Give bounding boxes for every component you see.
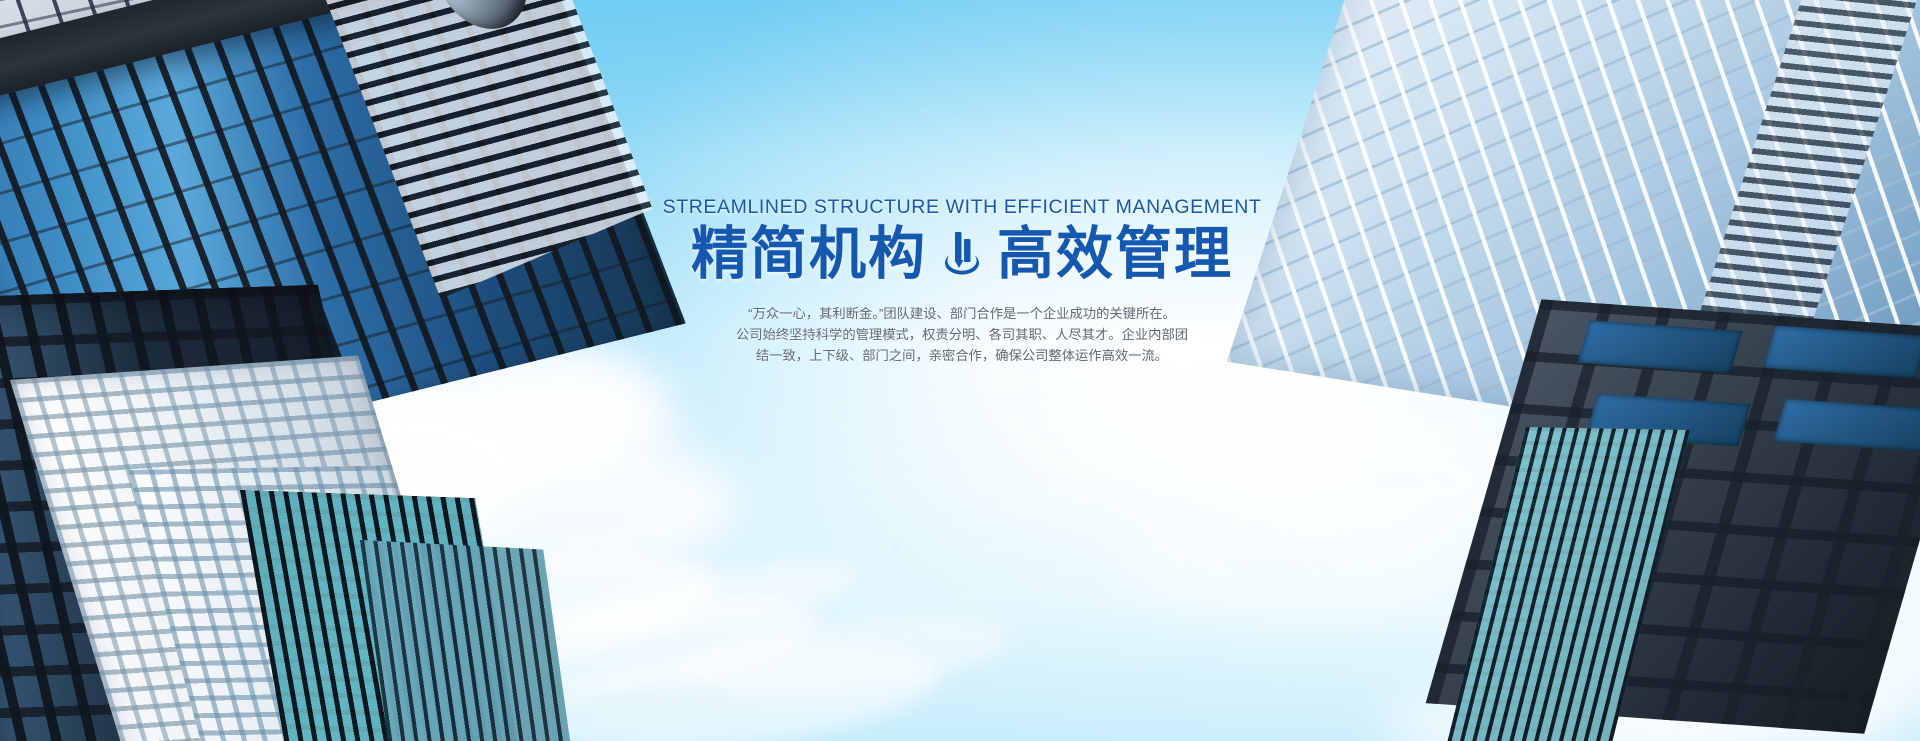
headline-text-left: 精简机构: [691, 223, 927, 287]
banner-paragraph: “万众一心，其利断金。”团队建设、部门合作是一个企业成功的关键所在。 公司始终坚…: [612, 303, 1312, 366]
cloud: [470, 370, 680, 470]
company-buildings-swoosh-logo-icon: [941, 230, 983, 280]
building-window: [1773, 399, 1920, 452]
building-window: [1577, 320, 1742, 373]
banner-eyebrow-english: STREAMLINED STRUCTURE WITH EFFICIENT MAN…: [612, 196, 1312, 219]
headline-text-right: 高效管理: [997, 223, 1233, 287]
paragraph-line-3: 结一致，上下级、部门之间，亲密合作，确保公司整体运作高效一流。: [612, 345, 1312, 366]
left-teal-glass-tower-2: [360, 540, 578, 741]
banner-headline: 精简机构 高效管理: [612, 223, 1312, 287]
building-window: [1763, 325, 1920, 378]
banner-copy-block: STREAMLINED STRUCTURE WITH EFFICIENT MAN…: [612, 196, 1312, 366]
paragraph-line-1: “万众一心，其利断金。”团队建设、部门合作是一个企业成功的关键所在。: [612, 303, 1312, 324]
paragraph-line-2: 公司始终坚持科学的管理模式，权责分明、各司其职、人尽其才。企业内部团: [612, 324, 1312, 345]
corporate-hero-banner: STREAMLINED STRUCTURE WITH EFFICIENT MAN…: [0, 0, 1920, 741]
cloud: [1120, 500, 1460, 620]
